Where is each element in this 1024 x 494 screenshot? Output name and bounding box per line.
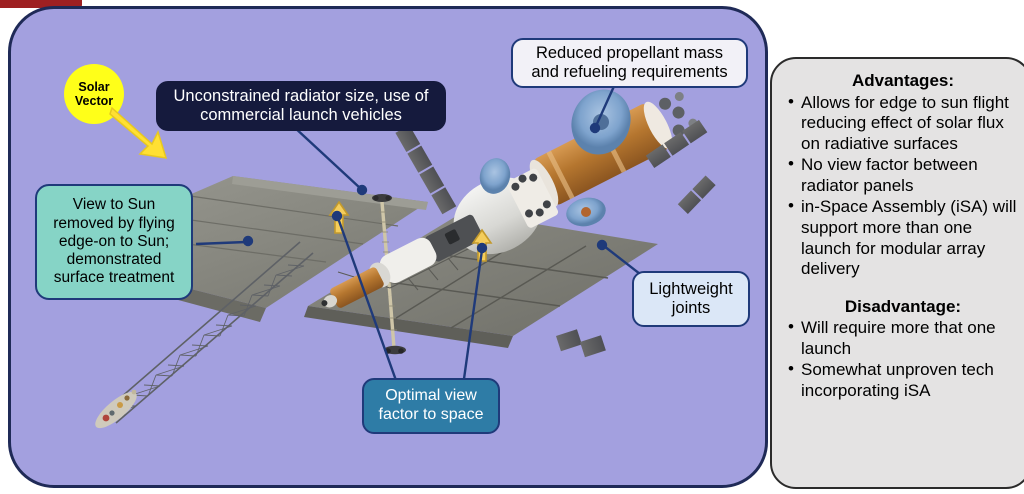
advantages-title: Advantages: [786, 71, 1020, 92]
callout-optimal-view-factor-text: Optimal view factor to space [376, 387, 486, 425]
pros-cons-panel: Advantages: Allows for edge to sun fligh… [770, 57, 1024, 489]
callout-unconstrained-radiator[interactable]: Unconstrained radiator size, use of comm… [156, 81, 446, 131]
callout-lightweight-joints[interactable]: Lightweight joints [632, 271, 750, 327]
disadvantage-item: Will require more that one launch [786, 318, 1020, 359]
advantage-item: in-Space Assembly (iSA) will support mor… [786, 197, 1020, 279]
callout-reduced-propellant[interactable]: Reduced propellant mass and refueling re… [511, 38, 748, 88]
callout-unconstrained-radiator-text: Unconstrained radiator size, use of comm… [170, 87, 432, 126]
callout-view-to-sun[interactable]: View to Sun removed by flying edge-on to… [35, 184, 193, 300]
disadvantage-item: Somewhat unproven tech incorporating iSA [786, 360, 1020, 401]
advantage-item: Allows for edge to sun flight reducing e… [786, 93, 1020, 155]
solar-vector-line1: Solar [78, 80, 109, 94]
advantage-item: No view factor between radiator panels [786, 155, 1020, 196]
disadvantages-list: Will require more that one launch Somewh… [786, 318, 1020, 401]
slide-canvas: Solar Vector Unconstrained radiator size… [0, 0, 1024, 494]
callout-view-to-sun-text: View to Sun removed by flying edge-on to… [46, 196, 182, 287]
disadvantage-title: Disadvantage: [786, 297, 1020, 318]
advantages-list: Allows for edge to sun flight reducing e… [786, 93, 1020, 280]
callout-reduced-propellant-text: Reduced propellant mass and refueling re… [524, 44, 735, 83]
callout-optimal-view-factor[interactable]: Optimal view factor to space [362, 378, 500, 434]
truss-tip-module [90, 386, 141, 433]
callout-lightweight-joints-text: Lightweight joints [644, 280, 738, 319]
